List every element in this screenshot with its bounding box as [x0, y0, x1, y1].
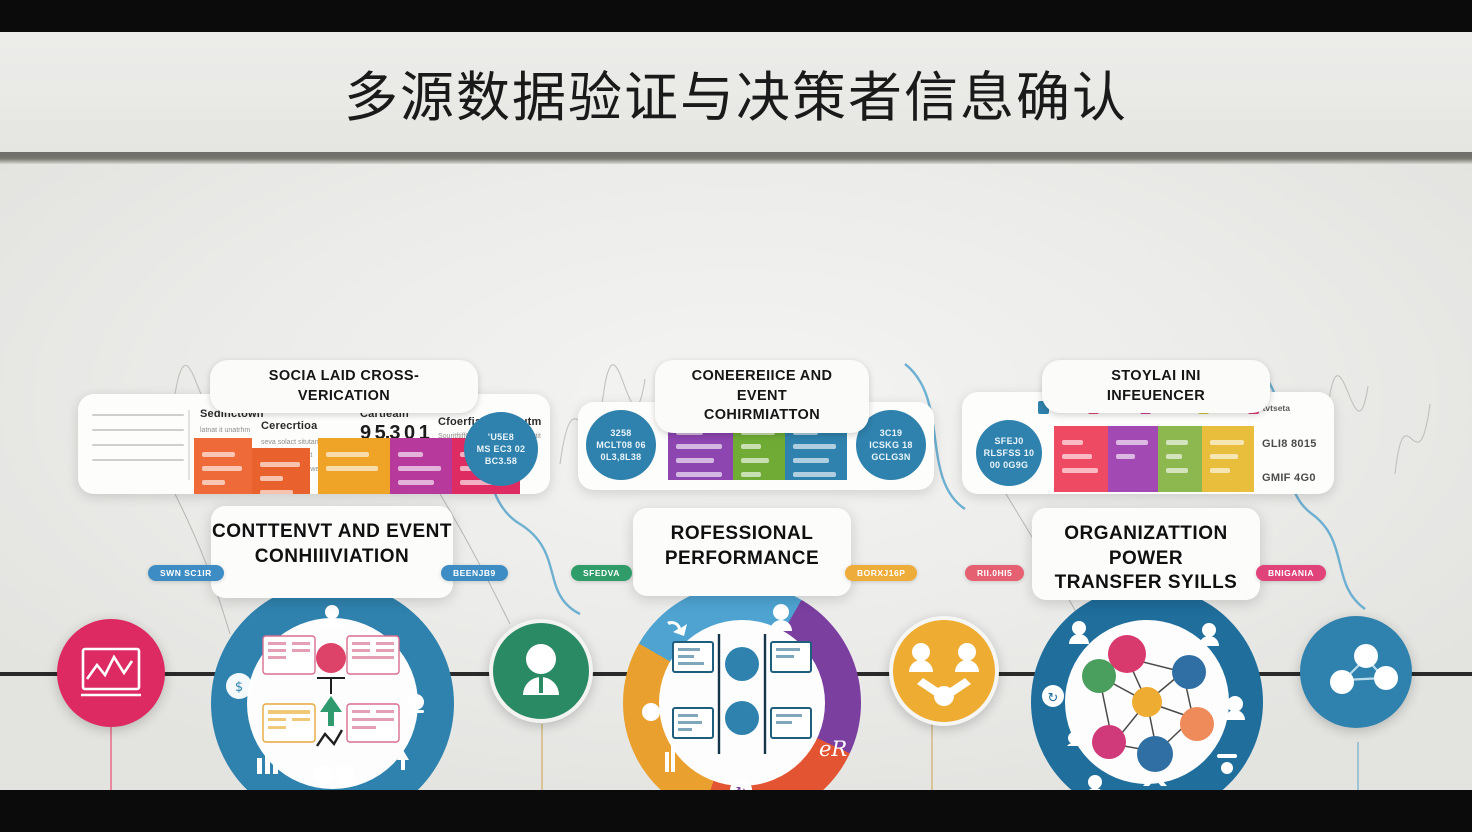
network-graph-icon: [1300, 616, 1412, 728]
node-chart-analytics[interactable]: [57, 619, 165, 727]
card-organization-power[interactable]: ORGANIZATTION POWER TRANSFER SYILLS: [1032, 508, 1260, 600]
badge-timeline[interactable]: BNIGANIA: [1256, 565, 1326, 581]
ring-professional-performance: ↻ eR: [623, 584, 861, 790]
person-icon: [493, 623, 589, 719]
ring-inner-documents: [247, 618, 418, 789]
badge-timeline[interactable]: BORXJ16P: [845, 565, 917, 581]
infographic-canvas: Sedinctown latnat it unatrhm btap cir bl…: [0, 164, 1472, 790]
people-handshake-icon: [893, 620, 995, 722]
card-bubble: SFEJ0 RLSFSS 10 00 0G9G: [976, 420, 1042, 486]
line-chart-icon: [57, 619, 165, 727]
connector-stem: [541, 724, 543, 790]
card-content-and-event[interactable]: CONTTENVT AND EVENT CONHIIIVIATION: [211, 506, 453, 598]
color-panel: [1054, 426, 1108, 492]
color-panel: [310, 448, 318, 494]
color-panel: [1202, 426, 1254, 492]
svg-text:↻: ↻: [1048, 691, 1059, 706]
header-bar: 多源数据验证与决策者信息确认: [0, 32, 1472, 152]
color-panel: [252, 448, 310, 494]
color-panel: [318, 438, 390, 494]
card-bubble-left: 3258 MCLT08 06 0L3,8L38: [586, 410, 656, 480]
connector-stem: [1357, 742, 1359, 790]
pill-conference-event[interactable]: CONEEREIICE AND EVENT COHIRMIATTON: [655, 360, 869, 433]
svg-text:$: $: [235, 680, 243, 695]
pill-social-influencer[interactable]: STOYLAI INI INFEUENCER: [1042, 360, 1270, 413]
badge-timeline[interactable]: RII.0HI5: [965, 565, 1024, 581]
color-panel: [390, 438, 452, 494]
color-panel: [1108, 426, 1158, 492]
page-title: 多源数据验证与决策者信息确认: [344, 53, 1128, 132]
hub-spoke-diagram: [1065, 620, 1229, 784]
card-professional-performance[interactable]: ROFESSIONAL PERFORMANCE: [633, 508, 851, 596]
connector-stem: [931, 720, 933, 790]
card-bubble: 'U5E8 MS EC3 02 BC3.58: [464, 412, 538, 486]
ring-inner-flow: [659, 620, 825, 786]
badge-timeline[interactable]: SWN SC1IR: [148, 565, 224, 581]
header-divider: [0, 152, 1472, 164]
color-panel: [194, 438, 252, 494]
card-side-label: GMIF 4G0: [1262, 472, 1316, 484]
ring-organization-network: ↻: [1031, 586, 1263, 790]
pill-social-cross-verification[interactable]: SOCIA LAID CROSS-VERICATION: [210, 360, 478, 413]
card-color-panels: [1054, 426, 1254, 492]
node-connection-graph[interactable]: [1300, 616, 1412, 728]
card-text-lines: [92, 414, 184, 474]
letterbox-top: [0, 0, 1472, 32]
card-column-head: Cerecrtioa: [261, 420, 317, 432]
ring-content-event: $: [211, 582, 454, 790]
infographic-slide: 多源数据验证与决策者信息确认: [0, 0, 1472, 832]
letterbox-bottom: [0, 790, 1472, 832]
badge-timeline[interactable]: SFEDVA: [571, 565, 632, 581]
node-people-network[interactable]: [889, 616, 999, 726]
card-side-label: GLI8 8015: [1262, 438, 1317, 450]
node-person-profile[interactable]: [489, 619, 593, 723]
color-panel: [1158, 426, 1202, 492]
badge-timeline[interactable]: BEENJB9: [441, 565, 508, 581]
